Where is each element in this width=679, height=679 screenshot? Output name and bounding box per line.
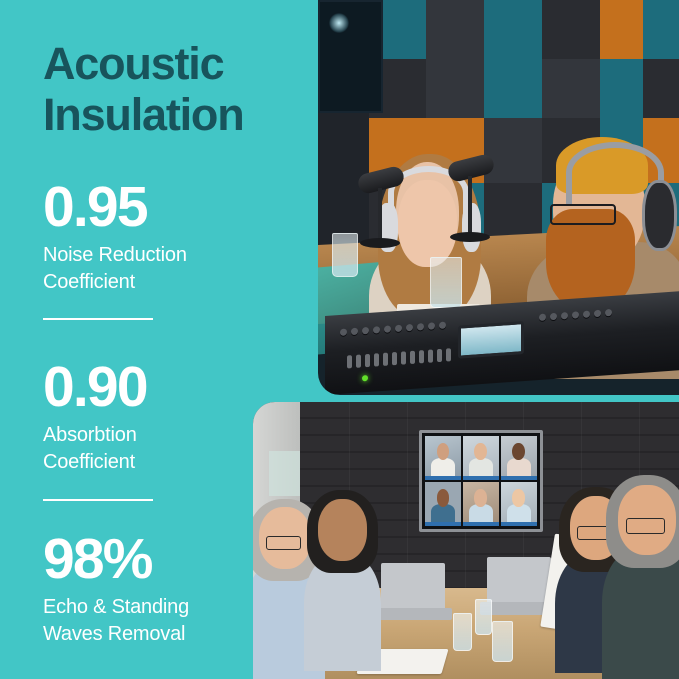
glasses-icon (626, 518, 665, 534)
studio-window (318, 0, 383, 113)
glasses-icon (550, 204, 617, 225)
attendee-man-right (602, 485, 679, 679)
water-glass-4 (475, 599, 492, 635)
video-call-tile (463, 436, 499, 480)
headphone-ear-cup (642, 180, 677, 251)
video-call-tile (501, 482, 537, 526)
laptop-2 (487, 557, 551, 604)
stat-value: 0.90 (43, 358, 293, 417)
water-glass-3 (453, 613, 472, 652)
water-glass-5 (492, 621, 513, 663)
stat-value: 98% (43, 530, 293, 589)
stat-label-line-1: Absorbtion (43, 422, 293, 449)
video-call-tile (501, 436, 537, 480)
video-call-tile (425, 436, 461, 480)
stat-label-line-2: Coefficient (43, 269, 293, 296)
page-title-line-1: Acoustic (43, 38, 308, 89)
stat-block-echo-removal: 98% Echo & Standing Waves Removal (43, 530, 293, 648)
stat-label: Noise Reduction Coefficient (43, 242, 293, 296)
divider-2 (43, 499, 153, 501)
photo-podcast-studio (318, 0, 679, 395)
stats-text-column: Acoustic Insulation 0.95 Noise Reduction… (0, 0, 320, 679)
water-glass-1 (332, 233, 357, 276)
console-power-led (362, 375, 368, 381)
page-title-line-2: Insulation (43, 89, 308, 140)
stat-label: Absorbtion Coefficient (43, 422, 293, 476)
page-title: Acoustic Insulation (43, 38, 308, 140)
divider-1 (43, 318, 153, 320)
video-call-screen (419, 430, 543, 532)
infographic-root: Acoustic Insulation 0.95 Noise Reduction… (0, 0, 679, 679)
stat-label: Echo & Standing Waves Removal (43, 594, 293, 648)
video-call-tile (425, 482, 461, 526)
stat-value: 0.95 (43, 178, 293, 237)
console-screen (458, 321, 524, 359)
stat-block-noise-reduction: 0.95 Noise Reduction Coefficient (43, 178, 293, 296)
laptop-1 (381, 563, 445, 610)
video-call-tile (463, 482, 499, 526)
water-glass-2 (430, 257, 462, 308)
stat-label-line-1: Echo & Standing (43, 594, 293, 621)
stat-label-line-1: Noise Reduction (43, 242, 293, 269)
stat-label-line-2: Waves Removal (43, 621, 293, 648)
stat-block-absorbtion: 0.90 Absorbtion Coefficient (43, 358, 293, 476)
stat-label-line-2: Coefficient (43, 449, 293, 476)
